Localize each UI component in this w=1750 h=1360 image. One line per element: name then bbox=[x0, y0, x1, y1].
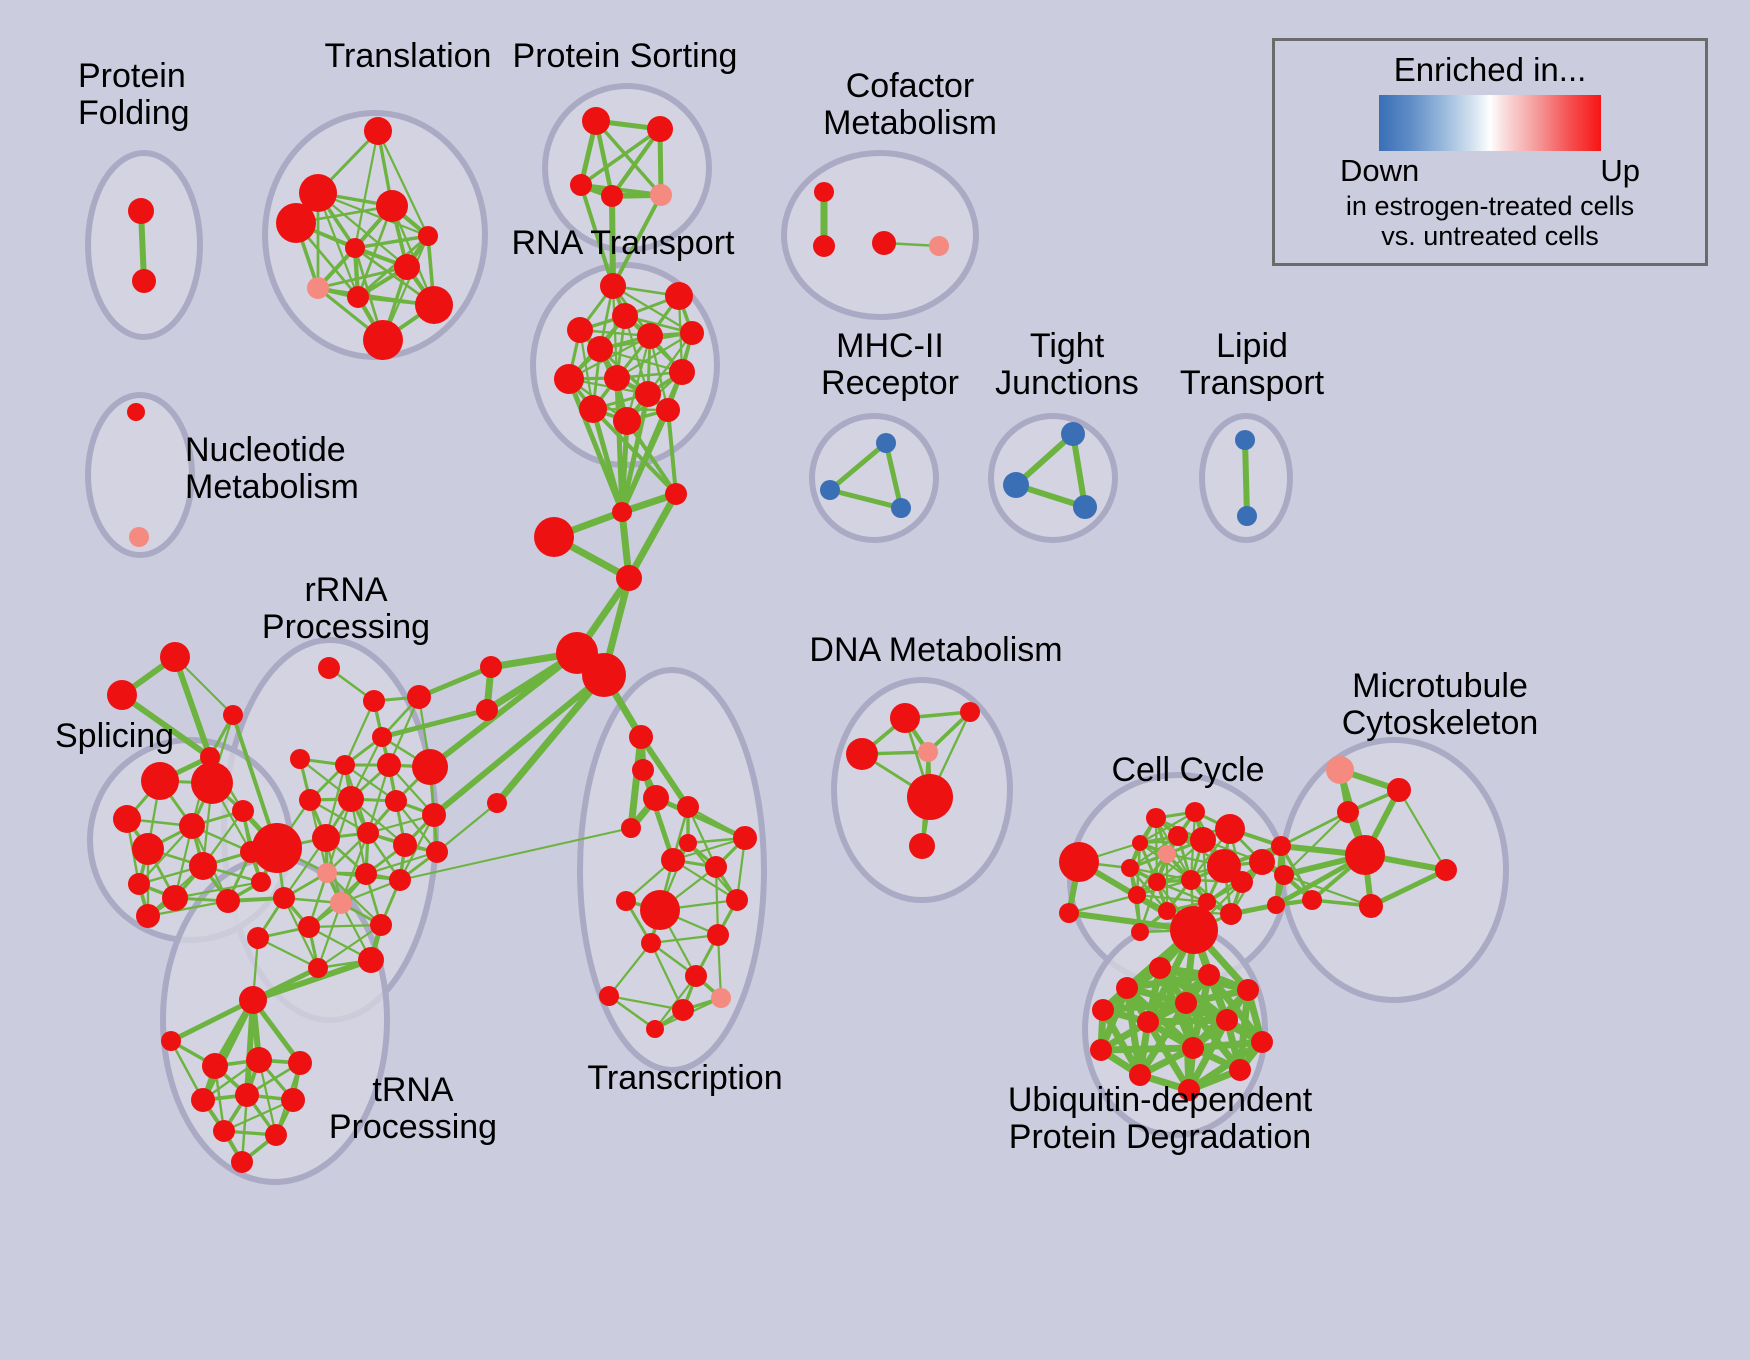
node-microtubule[interactable] bbox=[1337, 801, 1359, 823]
node-cell-cycle[interactable] bbox=[1132, 835, 1148, 851]
node-protein-sorting[interactable] bbox=[647, 116, 673, 142]
node-transcription[interactable] bbox=[726, 889, 748, 911]
node-rrna[interactable] bbox=[273, 887, 295, 909]
node-rrna[interactable] bbox=[370, 914, 392, 936]
node-rrna[interactable] bbox=[407, 685, 431, 709]
node-rna-transport[interactable] bbox=[600, 273, 626, 299]
node-splicing[interactable] bbox=[189, 852, 217, 880]
node-trna[interactable] bbox=[265, 1124, 287, 1146]
node-rrna[interactable] bbox=[299, 789, 321, 811]
node-translation[interactable] bbox=[376, 190, 408, 222]
node-bridge[interactable] bbox=[534, 517, 574, 557]
node-transcription[interactable] bbox=[685, 965, 707, 987]
node-transcription[interactable] bbox=[641, 933, 661, 953]
node-bridge[interactable] bbox=[629, 725, 653, 749]
node-cell-cycle[interactable] bbox=[1190, 827, 1216, 853]
legend-high-label: Up bbox=[1600, 153, 1640, 189]
node-bridge[interactable] bbox=[632, 759, 654, 781]
node-cell-cycle[interactable] bbox=[1231, 871, 1253, 893]
node-transcription[interactable] bbox=[616, 891, 636, 911]
node-trna[interactable] bbox=[235, 1083, 259, 1107]
node-translation[interactable] bbox=[415, 286, 453, 324]
node-ubiquitin[interactable] bbox=[1090, 1039, 1112, 1061]
node-rrna[interactable] bbox=[239, 986, 267, 1014]
node-dna-metabolism[interactable] bbox=[909, 833, 935, 859]
node-rrna[interactable] bbox=[363, 690, 385, 712]
node-bridge[interactable] bbox=[476, 699, 498, 721]
node-rrna[interactable] bbox=[312, 824, 340, 852]
legend-endpoint-labels: Down Up bbox=[1340, 153, 1640, 189]
node-ubiquitin[interactable] bbox=[1229, 1059, 1251, 1081]
node-translation[interactable] bbox=[363, 320, 403, 360]
node-transcription[interactable] bbox=[599, 986, 619, 1006]
node-bridge[interactable] bbox=[621, 818, 641, 838]
node-rrna[interactable] bbox=[317, 863, 337, 883]
node-dna-metabolism[interactable] bbox=[960, 702, 980, 722]
node-trna[interactable] bbox=[231, 1151, 253, 1173]
node-splicing[interactable] bbox=[113, 805, 141, 833]
node-trna[interactable] bbox=[213, 1120, 235, 1142]
edge bbox=[1148, 1020, 1227, 1022]
node-nucleotide[interactable] bbox=[129, 527, 149, 547]
node-bridge[interactable] bbox=[612, 502, 632, 522]
node-ubiquitin[interactable] bbox=[1251, 1031, 1273, 1053]
node-trna[interactable] bbox=[288, 1051, 312, 1075]
node-lipid-transport[interactable] bbox=[1237, 506, 1257, 526]
legend-box: Enriched in... Down Up in estrogen-treat… bbox=[1272, 38, 1708, 266]
node-ubiquitin[interactable] bbox=[1178, 1079, 1200, 1101]
node-rrna[interactable] bbox=[247, 927, 269, 949]
node-protein-sorting[interactable] bbox=[570, 174, 592, 196]
node-transcription[interactable] bbox=[679, 834, 697, 852]
node-transcription[interactable] bbox=[661, 848, 685, 872]
node-lipid-transport[interactable] bbox=[1235, 430, 1255, 450]
node-cell-cycle[interactable] bbox=[1148, 873, 1166, 891]
node-transcription[interactable] bbox=[707, 924, 729, 946]
node-rrna[interactable] bbox=[385, 790, 407, 812]
edge bbox=[437, 803, 497, 852]
node-cell-cycle[interactable] bbox=[1220, 903, 1242, 925]
node-tight-junctions[interactable] bbox=[1003, 472, 1029, 498]
node-bridge[interactable] bbox=[480, 656, 502, 678]
cluster-oval-mhc-ii bbox=[812, 416, 936, 540]
node-bridge[interactable] bbox=[616, 565, 642, 591]
node-ubiquitin[interactable] bbox=[1092, 999, 1114, 1021]
node-rna-transport[interactable] bbox=[604, 365, 630, 391]
node-rna-transport[interactable] bbox=[612, 303, 638, 329]
node-microtubule[interactable] bbox=[1345, 835, 1385, 875]
node-ubiquitin[interactable] bbox=[1129, 1064, 1151, 1086]
node-rrna[interactable] bbox=[357, 822, 379, 844]
node-rna-transport[interactable] bbox=[554, 364, 584, 394]
node-rna-transport[interactable] bbox=[567, 317, 593, 343]
node-bridge[interactable] bbox=[643, 785, 669, 811]
node-rrna[interactable] bbox=[308, 958, 328, 978]
node-rrna[interactable] bbox=[372, 727, 392, 747]
node-rna-transport[interactable] bbox=[613, 407, 641, 435]
node-microtubule[interactable] bbox=[1274, 865, 1294, 885]
node-splicing[interactable] bbox=[107, 680, 137, 710]
node-rrna[interactable] bbox=[338, 786, 364, 812]
node-rrna[interactable] bbox=[290, 749, 310, 769]
edge bbox=[612, 196, 613, 286]
node-cell-cycle[interactable] bbox=[1168, 826, 1188, 846]
node-protein-folding[interactable] bbox=[132, 269, 156, 293]
node-cell-cycle[interactable] bbox=[1158, 902, 1176, 920]
node-microtubule[interactable] bbox=[1267, 896, 1285, 914]
node-rrna[interactable] bbox=[358, 947, 384, 973]
node-cell-cycle[interactable] bbox=[1131, 923, 1149, 941]
node-rrna[interactable] bbox=[389, 869, 411, 891]
node-cell-cycle[interactable] bbox=[1146, 808, 1166, 828]
node-ubiquitin[interactable] bbox=[1149, 957, 1171, 979]
node-translation[interactable] bbox=[364, 117, 392, 145]
node-bridge[interactable] bbox=[582, 653, 626, 697]
node-trna[interactable] bbox=[161, 1031, 181, 1051]
node-translation[interactable] bbox=[394, 254, 420, 280]
node-tight-junctions[interactable] bbox=[1061, 422, 1085, 446]
node-cofactor[interactable] bbox=[814, 182, 834, 202]
node-protein-folding[interactable] bbox=[128, 198, 154, 224]
edge bbox=[430, 653, 577, 767]
node-microtubule[interactable] bbox=[1271, 836, 1291, 856]
node-ubiquitin[interactable] bbox=[1175, 992, 1197, 1014]
node-ubiquitin[interactable] bbox=[1216, 1009, 1238, 1031]
node-splicing[interactable] bbox=[141, 762, 179, 800]
node-microtubule[interactable] bbox=[1302, 890, 1322, 910]
node-cell-cycle[interactable] bbox=[1170, 906, 1218, 954]
cluster-oval-protein-sorting bbox=[545, 86, 709, 250]
node-mhc-ii[interactable] bbox=[891, 498, 911, 518]
node-transcription[interactable] bbox=[677, 796, 699, 818]
node-cell-cycle[interactable] bbox=[1185, 802, 1205, 822]
node-trna[interactable] bbox=[281, 1088, 305, 1112]
node-protein-sorting[interactable] bbox=[601, 185, 623, 207]
legend-low-label: Down bbox=[1340, 153, 1419, 189]
node-tight-junctions[interactable] bbox=[1073, 495, 1097, 519]
node-dna-metabolism[interactable] bbox=[846, 738, 878, 770]
node-ubiquitin[interactable] bbox=[1182, 1037, 1204, 1059]
node-trna[interactable] bbox=[202, 1053, 228, 1079]
node-translation[interactable] bbox=[276, 203, 316, 243]
node-splicing[interactable] bbox=[162, 885, 188, 911]
node-transcription[interactable] bbox=[640, 890, 680, 930]
node-splicing[interactable] bbox=[251, 872, 271, 892]
node-trna[interactable] bbox=[191, 1088, 215, 1112]
node-microtubule[interactable] bbox=[1387, 778, 1411, 802]
node-bridge[interactable] bbox=[665, 483, 687, 505]
node-rrna[interactable] bbox=[335, 755, 355, 775]
node-splicing[interactable] bbox=[136, 904, 160, 928]
node-transcription[interactable] bbox=[711, 988, 731, 1008]
node-microtubule[interactable] bbox=[1359, 894, 1383, 918]
node-rrna[interactable] bbox=[377, 753, 401, 777]
node-splicing[interactable] bbox=[232, 800, 254, 822]
node-dna-metabolism[interactable] bbox=[907, 774, 953, 820]
node-nucleotide[interactable] bbox=[127, 403, 145, 421]
edge bbox=[1101, 1048, 1193, 1050]
node-translation[interactable] bbox=[418, 226, 438, 246]
node-rna-transport[interactable] bbox=[680, 321, 704, 345]
node-microtubule[interactable] bbox=[1326, 756, 1354, 784]
node-cofactor[interactable] bbox=[872, 231, 896, 255]
legend-color-gradient-bar bbox=[1379, 95, 1601, 151]
node-cell-cycle[interactable] bbox=[1215, 814, 1245, 844]
node-bridge[interactable] bbox=[487, 793, 507, 813]
node-splicing[interactable] bbox=[223, 705, 243, 725]
node-ubiquitin[interactable] bbox=[1237, 979, 1259, 1001]
node-rna-transport[interactable] bbox=[579, 395, 607, 423]
node-trna[interactable] bbox=[246, 1047, 272, 1073]
node-cell-cycle[interactable] bbox=[1059, 903, 1079, 923]
node-cell-cycle[interactable] bbox=[1181, 870, 1201, 890]
enrichment-map-figure: Protein FoldingTranslationProtein Sortin… bbox=[0, 0, 1750, 1360]
node-rrna[interactable] bbox=[426, 841, 448, 863]
node-rrna[interactable] bbox=[412, 749, 448, 785]
node-rna-transport[interactable] bbox=[635, 381, 661, 407]
node-rrna[interactable] bbox=[422, 803, 446, 827]
node-ubiquitin[interactable] bbox=[1198, 964, 1220, 986]
node-protein-sorting[interactable] bbox=[582, 107, 610, 135]
node-rrna[interactable] bbox=[318, 657, 340, 679]
edge bbox=[1245, 440, 1247, 516]
legend-subtitle: in estrogen-treated cells vs. untreated … bbox=[1346, 191, 1634, 251]
node-transcription[interactable] bbox=[705, 856, 727, 878]
node-mhc-ii[interactable] bbox=[876, 433, 896, 453]
node-cofactor[interactable] bbox=[929, 236, 949, 256]
node-cell-cycle[interactable] bbox=[1158, 845, 1176, 863]
legend-title: Enriched in... bbox=[1394, 51, 1587, 89]
node-translation[interactable] bbox=[347, 286, 369, 308]
node-protein-sorting[interactable] bbox=[650, 184, 672, 206]
node-splicing[interactable] bbox=[132, 833, 164, 865]
node-splicing[interactable] bbox=[128, 873, 150, 895]
node-dna-metabolism[interactable] bbox=[918, 742, 938, 762]
node-translation[interactable] bbox=[307, 277, 329, 299]
node-mhc-ii[interactable] bbox=[820, 480, 840, 500]
node-translation[interactable] bbox=[345, 238, 365, 258]
node-transcription[interactable] bbox=[646, 1020, 664, 1038]
node-rna-transport[interactable] bbox=[587, 336, 613, 362]
node-splicing[interactable] bbox=[179, 813, 205, 839]
node-cell-cycle[interactable] bbox=[1059, 842, 1099, 882]
node-ubiquitin[interactable] bbox=[1137, 1011, 1159, 1033]
node-splicing[interactable] bbox=[160, 642, 190, 672]
node-microtubule[interactable] bbox=[1435, 859, 1457, 881]
node-transcription[interactable] bbox=[733, 826, 757, 850]
node-rna-transport[interactable] bbox=[637, 323, 663, 349]
node-rrna[interactable] bbox=[330, 892, 352, 914]
node-rrna[interactable] bbox=[355, 863, 377, 885]
node-rna-transport[interactable] bbox=[656, 398, 680, 422]
node-rna-transport[interactable] bbox=[669, 359, 695, 385]
node-cell-cycle[interactable] bbox=[1128, 886, 1146, 904]
node-ubiquitin[interactable] bbox=[1116, 977, 1138, 999]
node-rrna[interactable] bbox=[252, 823, 302, 873]
node-rna-transport[interactable] bbox=[665, 282, 693, 310]
node-cell-cycle[interactable] bbox=[1249, 849, 1275, 875]
node-cell-cycle[interactable] bbox=[1121, 859, 1139, 877]
node-splicing[interactable] bbox=[191, 762, 233, 804]
node-cofactor[interactable] bbox=[813, 235, 835, 257]
node-rrna[interactable] bbox=[298, 916, 320, 938]
node-splicing[interactable] bbox=[216, 889, 240, 913]
node-dna-metabolism[interactable] bbox=[890, 703, 920, 733]
node-rrna[interactable] bbox=[393, 833, 417, 857]
node-transcription[interactable] bbox=[672, 999, 694, 1021]
